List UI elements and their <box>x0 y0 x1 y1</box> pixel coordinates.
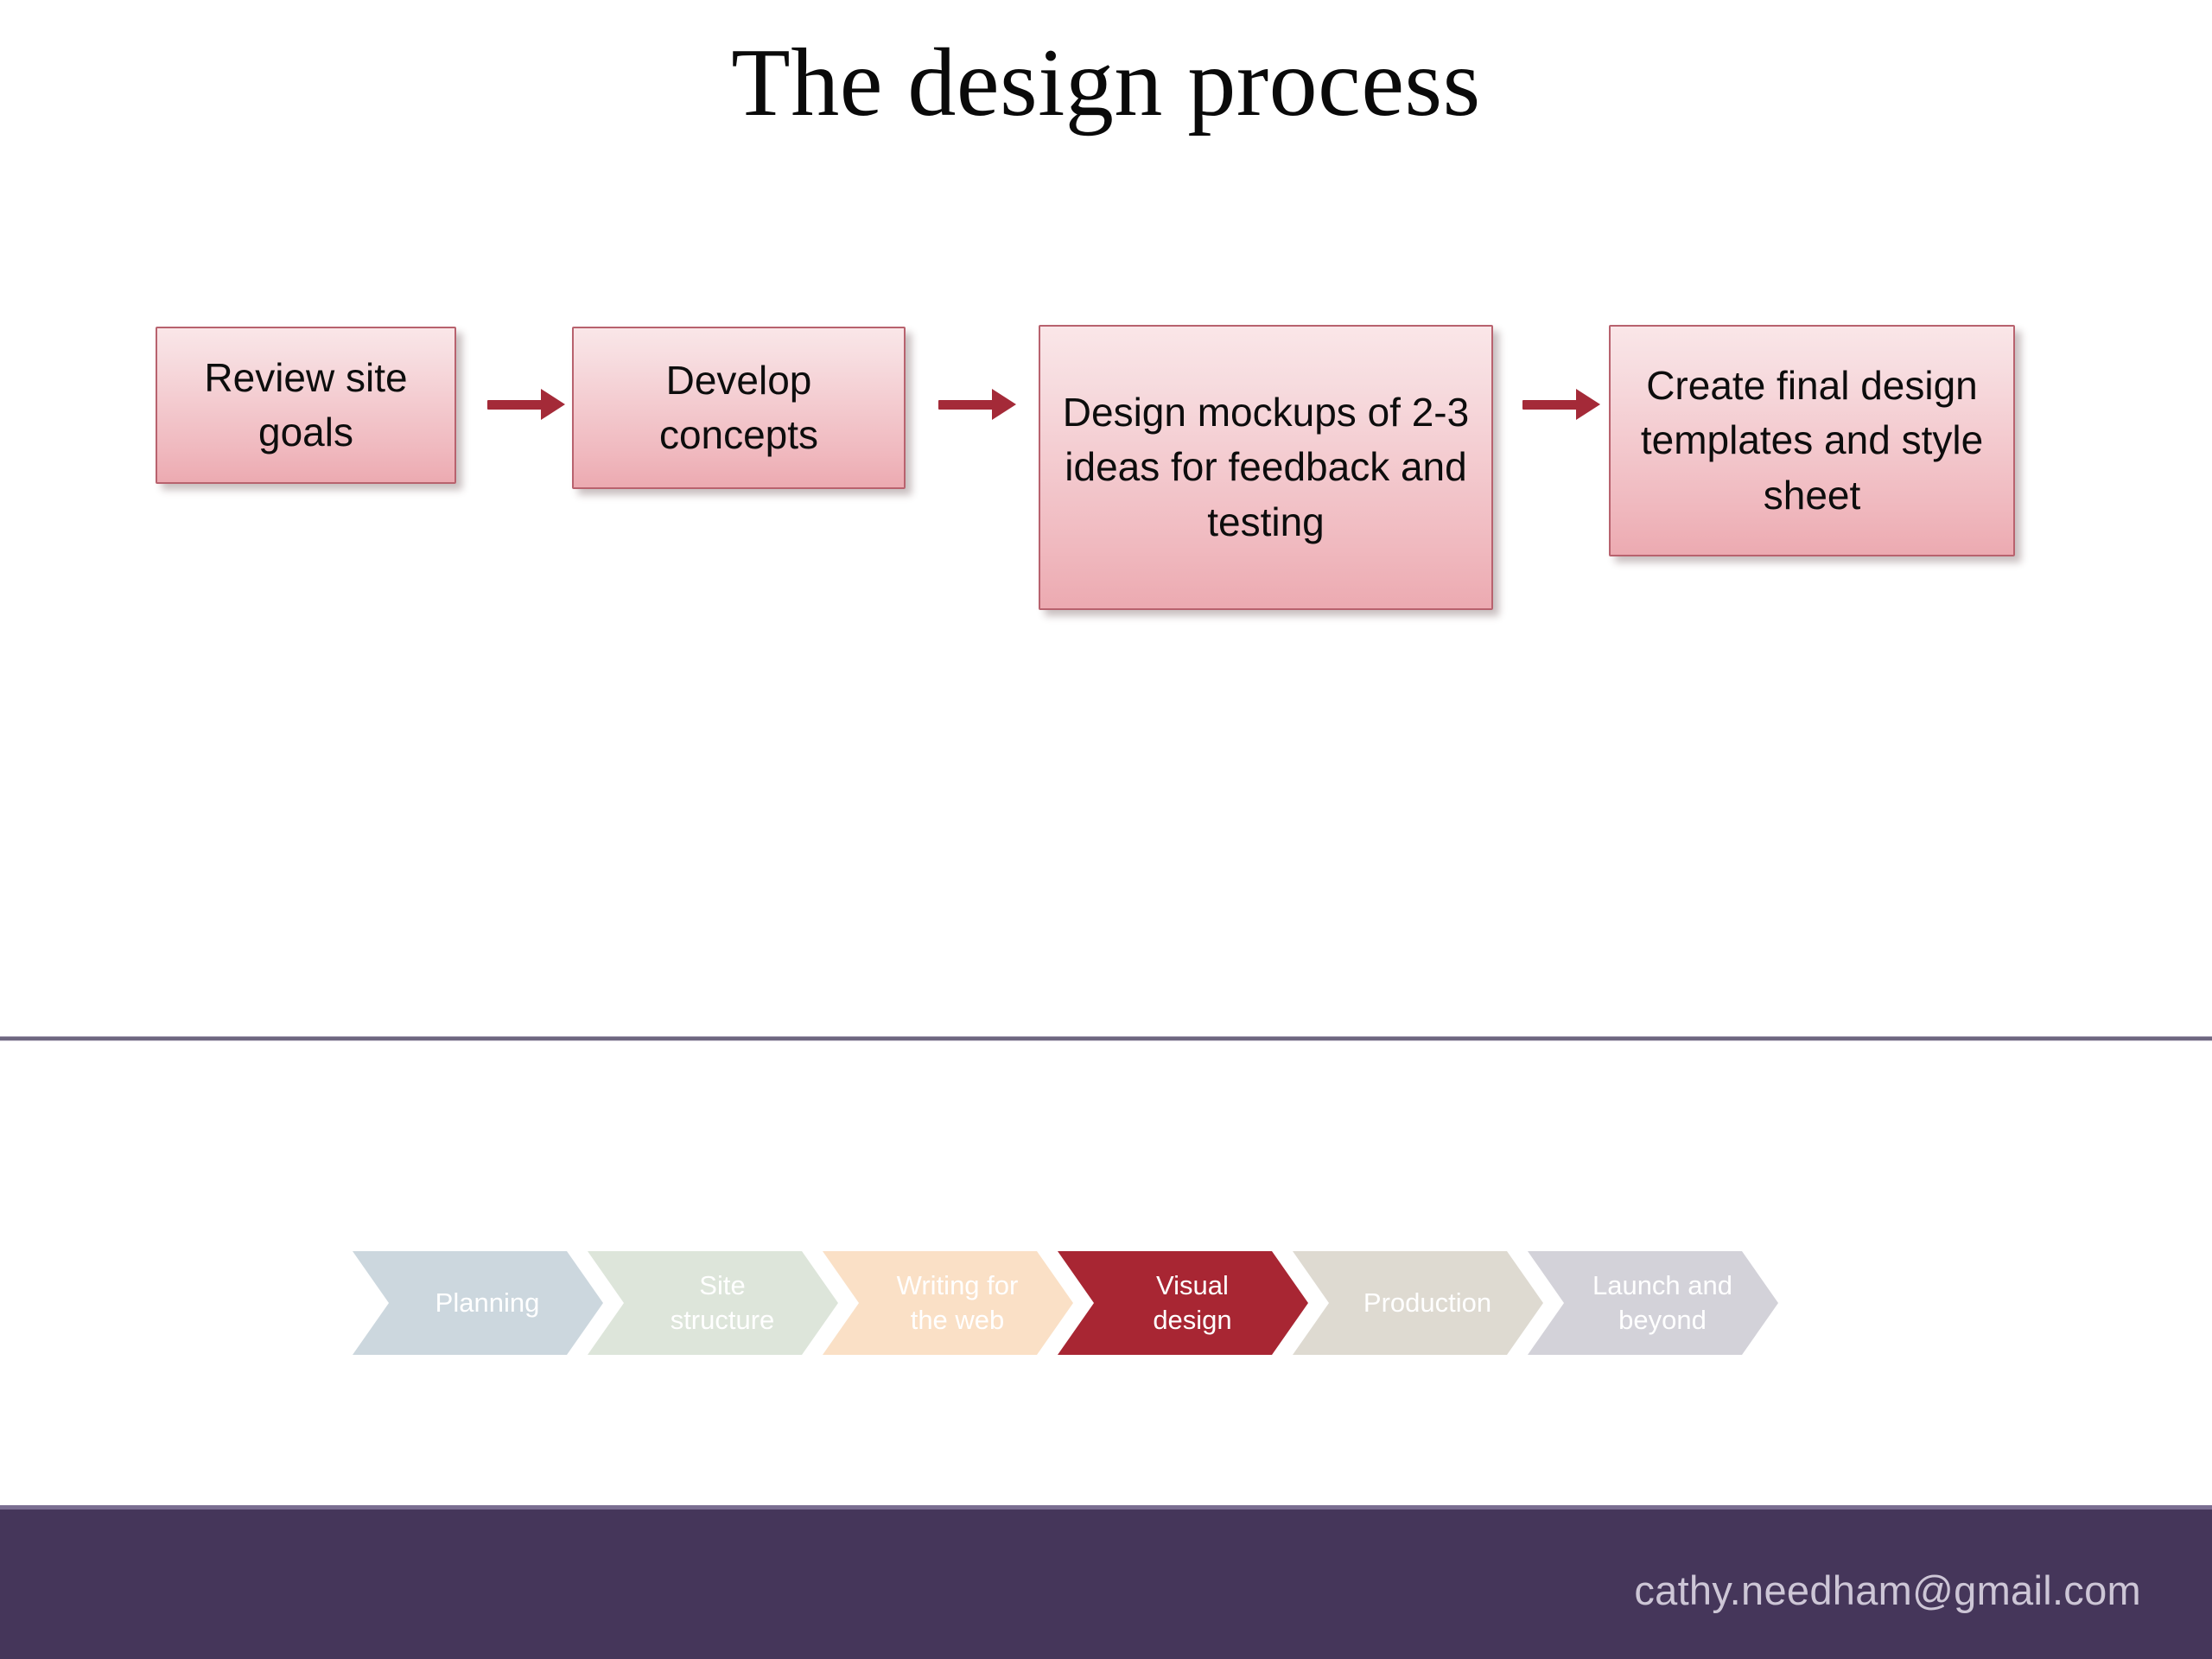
progress-step-label: Visual design <box>1127 1268 1238 1337</box>
section-divider <box>0 1036 2212 1041</box>
footer-email: cathy.needham@gmail.com <box>1634 1567 2141 1614</box>
process-step-box-1[interactable]: Review site goals <box>156 327 456 484</box>
progress-step-label: Planning <box>410 1286 547 1320</box>
progress-step-visual-design[interactable]: Visual design <box>1058 1251 1308 1355</box>
progress-step-label: Production <box>1338 1286 1498 1320</box>
process-step-label: Develop concepts <box>586 353 892 463</box>
process-step-label: Create final design templates and style … <box>1623 359 2001 523</box>
process-step-box-2[interactable]: Develop concepts <box>572 327 906 489</box>
progress-step-label: Writing for the web <box>871 1268 1026 1337</box>
progress-step-label: Site structure <box>645 1268 782 1337</box>
progress-step-site-structure[interactable]: Site structure <box>588 1251 838 1355</box>
process-step-box-3[interactable]: Design mockups of 2-3 ideas for feedback… <box>1039 325 1493 610</box>
process-flow-diagram: Review site goals Develop concepts Desig… <box>0 0 2212 1020</box>
progress-step-launch-and-beyond[interactable]: Launch and beyond <box>1528 1251 1778 1355</box>
slide: The design process Review site goals Dev… <box>0 0 2212 1659</box>
progress-step-writing-for-the-web[interactable]: Writing for the web <box>823 1251 1073 1355</box>
progress-step-production[interactable]: Production <box>1293 1251 1543 1355</box>
progress-step-planning[interactable]: Planning <box>353 1251 603 1355</box>
progress-step-label: Launch and beyond <box>1567 1268 1739 1337</box>
process-step-label: Design mockups of 2-3 ideas for feedback… <box>1052 385 1479 550</box>
process-step-box-4[interactable]: Create final design templates and style … <box>1609 325 2015 556</box>
footer-bar: cathy.needham@gmail.com <box>0 1505 2212 1659</box>
process-step-label: Review site goals <box>169 351 442 461</box>
